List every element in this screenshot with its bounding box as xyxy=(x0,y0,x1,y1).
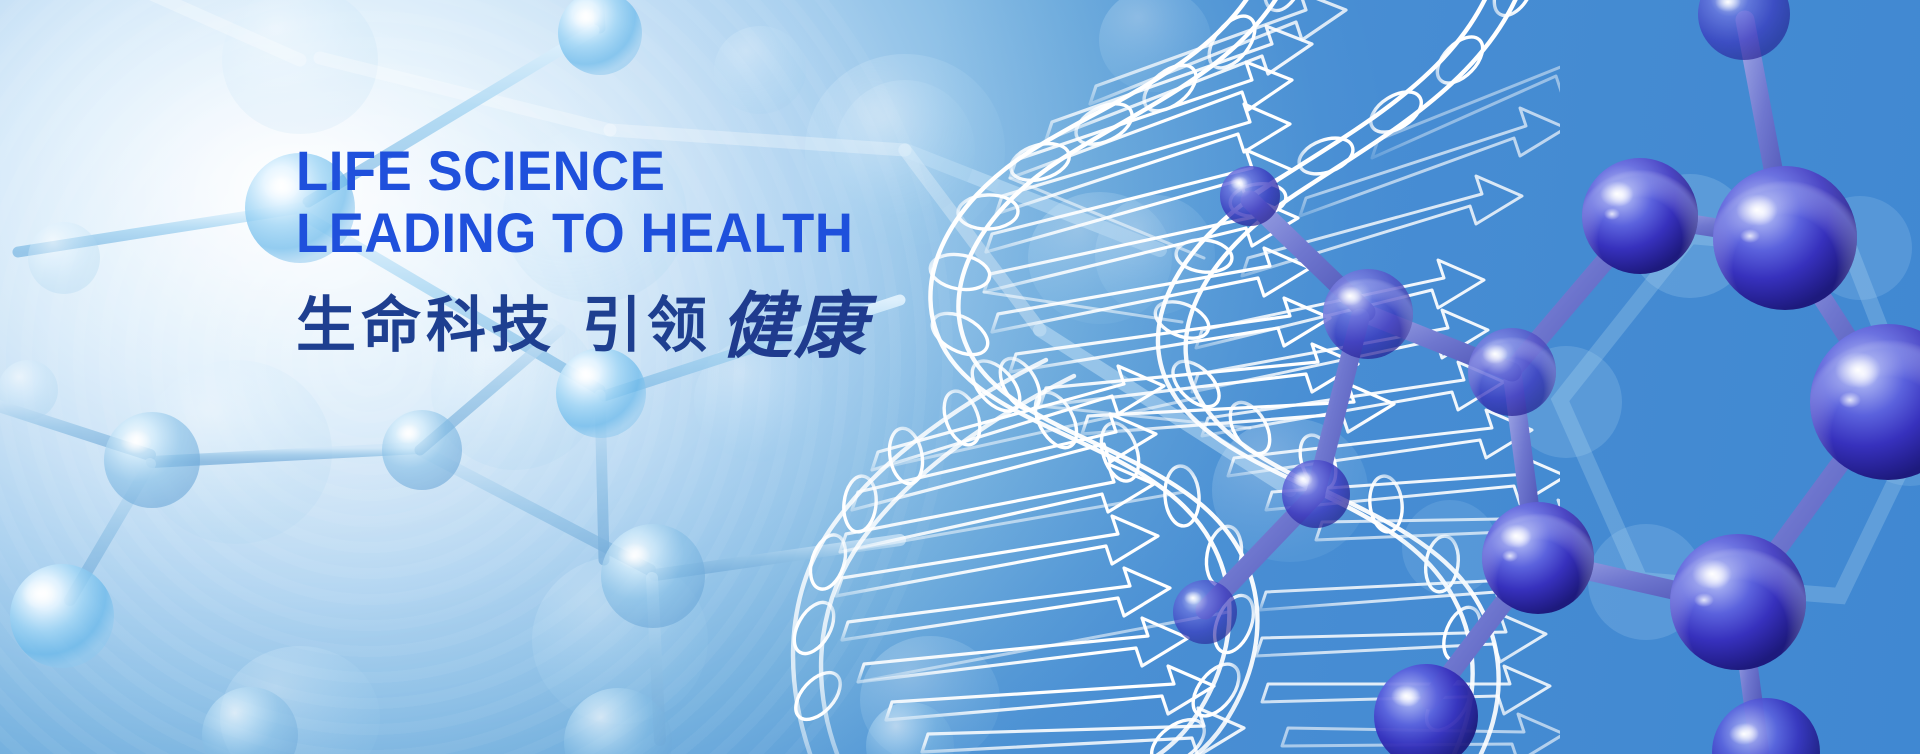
life-science-banner: LIFE SCIENCE LEADING TO HEALTH 生命科技 引领 健… xyxy=(0,0,1920,754)
molecule-lattice-dark-layer xyxy=(0,0,1920,754)
subheadline-line: 生命科技 引领 健康 xyxy=(296,284,1116,356)
subheadline-part-2: 引领 xyxy=(582,296,712,356)
dark-molecule-spheres xyxy=(1173,0,1920,754)
subheadline-part-3-calligraphy: 健康 xyxy=(720,290,868,362)
headline-block: LIFE SCIENCE LEADING TO HEALTH 生命科技 引领 健… xyxy=(296,140,1116,356)
headline-line-1: LIFE SCIENCE xyxy=(296,140,1067,202)
headline-line-2: LEADING TO HEALTH xyxy=(296,202,1067,264)
subheadline-part-1: 生命科技 xyxy=(296,296,556,356)
